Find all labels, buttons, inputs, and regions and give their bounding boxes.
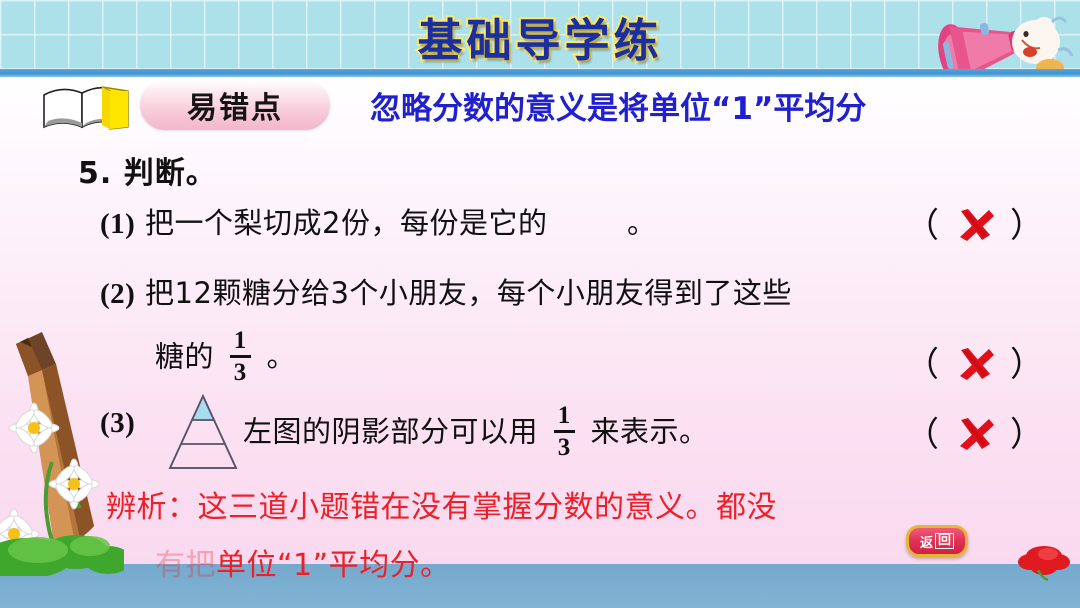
item-3-fraction-numerator: 1 [554,403,575,428]
item-3-text-after: 来表示。 [590,414,708,448]
question-item-1: (1) 把一个梨切成2份，每份是它的 。 [100,200,656,242]
return-button[interactable]: 返回 [906,525,968,557]
item-2-line2-before: 糖的 [155,339,214,373]
item-2-fraction: 1 3 [230,328,251,385]
item-3-judgement: （ ） [905,407,1044,456]
item-1-judgement: （ ） [905,198,1044,247]
item-3-text-before: 左图的阴影部分可以用 [243,414,538,448]
cross-mark-icon [956,417,994,451]
item-2-fraction-denominator: 3 [230,360,251,385]
explanation-line-2-text: 单位“1”平均分。 [216,548,451,583]
return-button-char-2: 回 [935,533,954,549]
cross-mark-icon [956,208,994,242]
explanation-line-1: 辨析：这三道小题错在没有掌握分数的意义。都没 [106,482,777,526]
slide-stage: 基础导学练 [0,0,1080,608]
tip-row: 易错点 忽略分数的意义是将单位“1”平均分 [0,80,1080,132]
tip-subtitle: 忽略分数的意义是将单位“1”平均分 [370,78,1030,132]
header-banner: 基础导学练 [0,0,1080,69]
item-2-line2-after: 。 [266,339,296,373]
item-2-paren-close: ） [1010,347,1044,384]
explanation-line-2-faded: 有把 [155,548,216,583]
item-2-fraction-bar [230,355,251,358]
item-1-paren-close: ） [1010,208,1044,245]
item-2-fraction-numerator: 1 [230,328,251,353]
question-item-3-text: 左图的阴影部分可以用 1 3 来表示。 [243,405,708,462]
explanation-line-2: 有把单位“1”平均分。 [155,540,451,584]
question-number: 5. 判断。 [78,148,217,192]
tip-badge: 易错点 [140,80,330,130]
shaded-triangle-icon [162,392,244,470]
question-item-2-line1: (2) 把12颗糖分给3个小朋友，每个小朋友得到了这些 [100,270,792,312]
item-2-line1-text: 把12颗糖分给3个小朋友，每个小朋友得到了这些 [145,276,792,310]
item-3-paren-open: （ [905,417,939,454]
item-2-label: (2) [100,278,135,310]
question-item-3-label: (3) [100,405,135,440]
tip-badge-label: 易错点 [140,80,330,130]
return-button-label: 返回 [920,532,954,551]
page-title: 基础导学练 [0,4,1080,69]
item-1-text-after: 。 [627,206,657,240]
header-divider [0,69,1080,77]
question-item-2-line2: 糖的 1 3 。 [155,330,296,387]
item-2-judgement: （ ） [905,337,1044,386]
item-2-paren-open: （ [905,347,939,384]
item-3-fraction-bar [554,430,575,433]
open-book-icon [40,83,135,133]
pencil-with-flowers-icon [0,330,124,576]
megaphone-character-icon [926,0,1076,69]
red-flower-icon [1014,542,1078,582]
item-3-paren-close: ） [1010,417,1044,454]
item-3-fraction: 1 3 [554,403,575,460]
item-1-paren-open: （ [905,208,939,245]
cross-mark-icon [956,347,994,381]
return-button-char-1: 返 [920,532,933,551]
item-1-text-before: 把一个梨切成2份，每份是它的 [145,206,547,240]
item-3-label: (3) [100,407,135,439]
item-3-fraction-denominator: 3 [554,435,575,460]
item-1-label: (1) [100,208,135,240]
